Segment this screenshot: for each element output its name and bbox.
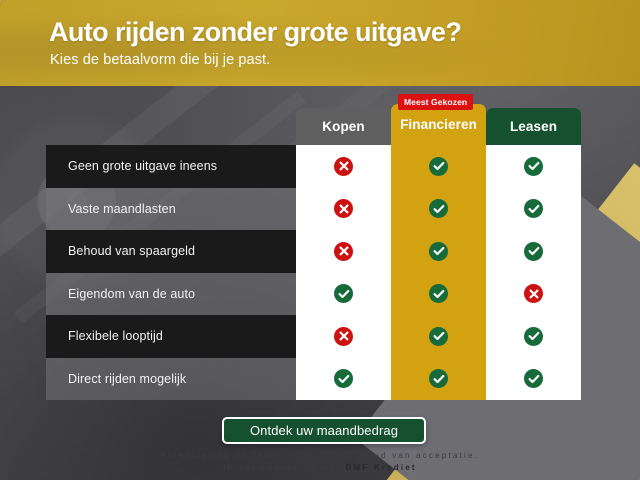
check-circle-icon	[429, 157, 448, 176]
cross-circle-icon	[334, 327, 353, 346]
discover-monthly-amount-button[interactable]: Ontdek uw maandbedrag	[222, 417, 426, 444]
feature-row: Flexibele looptijd	[46, 315, 296, 358]
disclaimer-partner-prefix: In samenwerking met	[223, 463, 345, 472]
disclaimer-line-1: Financiering en lease onder voorbehoud v…	[0, 450, 640, 462]
comparison-column-kopen[interactable]: Kopen	[296, 108, 391, 400]
promo-comparison-page: Auto rijden zonder grote uitgave? Kies d…	[0, 0, 640, 480]
feature-row-label: Geen grote uitgave ineens	[68, 159, 217, 173]
check-circle-icon	[429, 369, 448, 388]
comparison-cell	[486, 188, 581, 231]
column-header-kopen[interactable]: Kopen	[296, 108, 391, 145]
disclaimer-partner-brand: DMF Krediet	[345, 463, 416, 472]
feature-row-label: Flexibele looptijd	[68, 329, 163, 343]
feature-row: Direct rijden mogelijk	[46, 358, 296, 401]
disclaimer-line-2: In samenwerking met DMF Krediet	[0, 462, 640, 474]
cross-circle-icon	[334, 199, 353, 218]
cross-circle-icon	[334, 157, 353, 176]
comparison-cell	[486, 145, 581, 188]
comparison-cell	[296, 315, 391, 358]
feature-row-label: Eigendom van de auto	[68, 287, 195, 301]
cross-circle-icon	[334, 242, 353, 261]
comparison-cell	[391, 188, 486, 231]
column-body-financieren	[391, 145, 486, 400]
comparison-cell	[486, 273, 581, 316]
check-circle-icon	[524, 157, 543, 176]
comparison-cell	[486, 230, 581, 273]
column-header-label: Kopen	[322, 119, 365, 134]
comparison-cell	[391, 315, 486, 358]
feature-row-label: Direct rijden mogelijk	[68, 372, 186, 386]
cross-circle-icon	[524, 284, 543, 303]
page-title: Auto rijden zonder grote uitgave?	[49, 17, 461, 48]
check-circle-icon	[524, 369, 543, 388]
comparison-cell	[391, 145, 486, 188]
comparison-cell	[391, 273, 486, 316]
column-body-kopen	[296, 145, 391, 400]
comparison-cell	[296, 358, 391, 401]
disclaimer-text: Financiering en lease onder voorbehoud v…	[0, 450, 640, 474]
check-circle-icon	[429, 327, 448, 346]
comparison-cell	[391, 230, 486, 273]
comparison-cell	[296, 230, 391, 273]
feature-row: Geen grote uitgave ineens	[46, 145, 296, 188]
cta-label: Ontdek uw maandbedrag	[250, 423, 398, 438]
feature-row-label: Vaste maandlasten	[68, 202, 176, 216]
comparison-cell	[391, 358, 486, 401]
check-circle-icon	[524, 242, 543, 261]
column-header-label: Leasen	[510, 119, 557, 134]
check-circle-icon	[524, 327, 543, 346]
comparison-cell	[486, 358, 581, 401]
column-header-label: Financieren	[400, 117, 477, 132]
check-circle-icon	[429, 199, 448, 218]
check-circle-icon	[429, 284, 448, 303]
check-circle-icon	[429, 242, 448, 261]
comparison-cell	[486, 315, 581, 358]
page-header-banner: Auto rijden zonder grote uitgave? Kies d…	[0, 0, 640, 86]
page-subtitle: Kies de betaalvorm die bij je past.	[50, 52, 270, 68]
feature-row: Eigendom van de auto	[46, 273, 296, 316]
check-circle-icon	[524, 199, 543, 218]
comparison-column-financieren[interactable]: Financieren	[391, 104, 486, 400]
feature-row-label: Behoud van spaargeld	[68, 244, 195, 258]
check-circle-icon	[334, 369, 353, 388]
feature-row: Behoud van spaargeld	[46, 230, 296, 273]
feature-label-list: Geen grote uitgave ineensVaste maandlast…	[46, 145, 296, 400]
comparison-column-leasen[interactable]: Leasen	[486, 108, 581, 400]
comparison-cell	[296, 188, 391, 231]
comparison-cell	[296, 145, 391, 188]
feature-row: Vaste maandlasten	[46, 188, 296, 231]
check-circle-icon	[334, 284, 353, 303]
most-chosen-badge: Meest Gekozen	[398, 94, 473, 110]
column-header-leasen[interactable]: Leasen	[486, 108, 581, 145]
column-header-financieren[interactable]: Financieren	[391, 104, 486, 145]
column-body-leasen	[486, 145, 581, 400]
comparison-cell	[296, 273, 391, 316]
